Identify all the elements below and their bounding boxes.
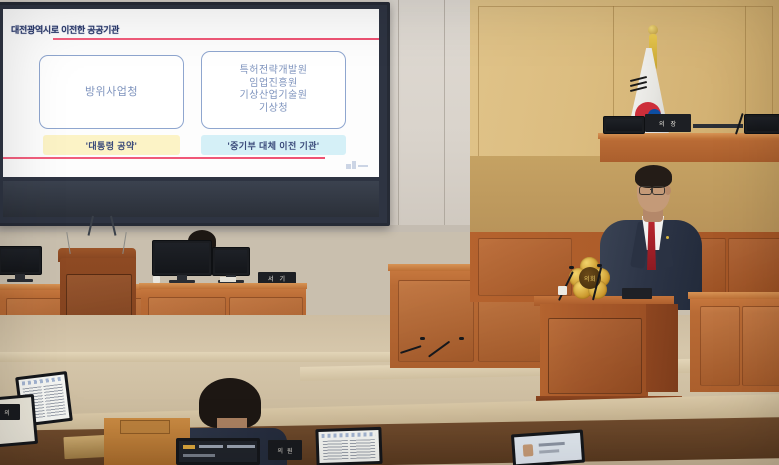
speaker-glasses-icon [652, 186, 665, 195]
speaking-member [596, 158, 706, 308]
side-gallery-desk-top [688, 292, 779, 299]
podium-control-box [622, 288, 652, 299]
member-monitor [511, 430, 585, 465]
staff-monitor-center-right [212, 247, 250, 276]
bench-microphone-head [459, 337, 464, 340]
council-emblem-icon: 의회 [570, 258, 610, 298]
podium-microphone-head [597, 264, 602, 267]
wall-seam-line [398, 0, 399, 232]
member-nameplate: 의 원 [268, 440, 302, 460]
podium-microphone-head [569, 266, 574, 269]
slide-corner-logo [346, 161, 372, 170]
member-monitor [0, 394, 38, 448]
side-gallery-desk-panel [700, 306, 740, 386]
staff-nameplate-char-2: 기 [280, 274, 287, 283]
desk-cup [153, 276, 160, 283]
slide-tag-right-label: '중기부 대체 이전 기관' [228, 139, 320, 152]
emblem-label: 의회 [584, 274, 596, 283]
bench-microphone-head [420, 337, 425, 340]
desk-papers [220, 277, 236, 282]
chairman-monitor-right [744, 114, 779, 134]
slide-institution-0: 특허전략개발원 [240, 65, 308, 78]
slide-box-left-label: 방위사업청 [85, 86, 138, 99]
slide-tag-right: '중기부 대체 이전 기관' [201, 135, 346, 155]
speaker-glasses-icon [639, 186, 652, 195]
member-monitor [315, 427, 382, 465]
speaker-tie [647, 222, 656, 270]
foreground-podium-tray [120, 420, 170, 434]
slide-institution-3: 기상청 [259, 103, 288, 116]
staff-desk-center-top [139, 283, 307, 289]
slide-institution-1: 임업진흥원 [249, 78, 298, 91]
slide-tag-left: '대통령 공약' [43, 135, 180, 155]
member-nameplate-char-1: 의 [277, 446, 283, 455]
staff-monitor-center [152, 240, 212, 276]
wall-baseboard [0, 225, 470, 232]
chairman-nameplate: 의 장 [645, 114, 691, 132]
council-chamber-photo: 의 장 대전광역시로 이전한 공공기관 방위사업청 '대통령 공약' 특허전략개… [0, 0, 779, 465]
speaker-lapel-badge-icon [666, 236, 669, 239]
slide-institution-2: 기상산업기술원 [240, 90, 308, 103]
chairman-desk-rail [693, 124, 743, 128]
speaker-glasses-bridge [650, 189, 653, 190]
staff-monitor-far-left [0, 246, 42, 275]
slide-title: 대전광역시로 이전한 공공기관 [11, 23, 119, 36]
display-bezel [3, 181, 379, 217]
upper-tier-panel [728, 238, 779, 296]
member-nameplate-char-2: 원 [287, 446, 293, 455]
wall-seam-line [444, 0, 445, 232]
slide-title-underline [53, 38, 379, 40]
nameplate-char-1: 의 [659, 119, 666, 128]
member-nameplate-char: 의 [4, 408, 10, 417]
presentation-slide: 대전광역시로 이전한 공공기관 방위사업청 '대통령 공약' 특허전략개발원 임… [3, 9, 379, 177]
staff-nameplate-char-1: 서 [268, 274, 275, 283]
side-gallery-desk-panel [742, 306, 779, 386]
slide-tag-left-label: '대통령 공약' [86, 139, 137, 152]
speaker-ear [665, 186, 671, 195]
podium-cup [558, 286, 567, 295]
presentation-display: 대전광역시로 이전한 공공기관 방위사업청 '대통령 공약' 특허전략개발원 임… [0, 2, 390, 226]
slide-box-right: 특허전략개발원 임업진흥원 기상산업기술원 기상청 [201, 51, 346, 129]
chairman-monitor-left [603, 116, 645, 134]
desk-folder [63, 435, 108, 459]
nameplate-char-2: 장 [671, 119, 678, 128]
podium-front-panel [548, 318, 642, 394]
slide-footer-rule [3, 157, 325, 159]
member-monitor [176, 438, 260, 465]
podium-side [646, 304, 678, 392]
slide-box-left: 방위사업청 [39, 55, 184, 129]
floor-step-edge [0, 352, 420, 362]
speaker-hair [635, 165, 672, 188]
member-nameplate: 의 [0, 404, 20, 420]
